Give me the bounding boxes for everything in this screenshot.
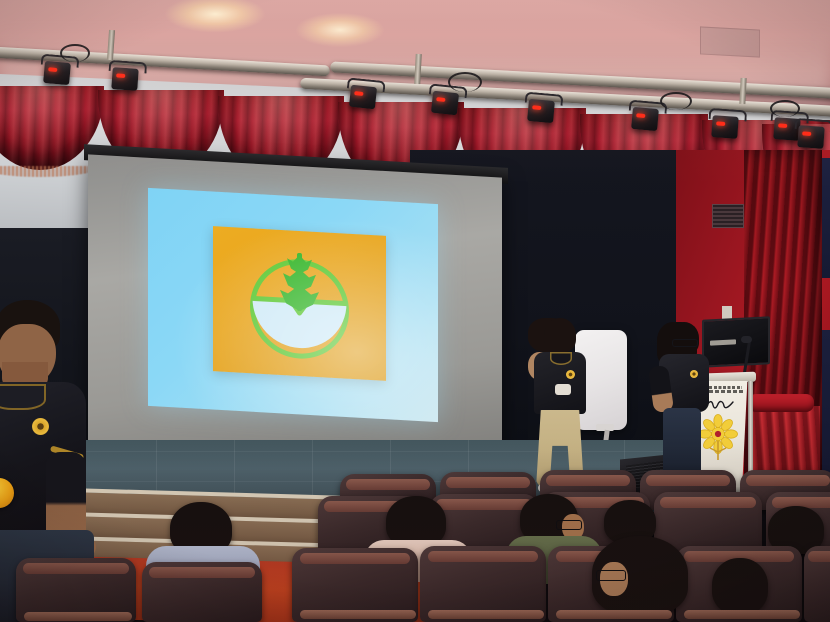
cable: [770, 100, 800, 117]
podium-presenter: [657, 322, 715, 482]
cable: [660, 92, 692, 110]
glasses-icon: [596, 570, 626, 581]
polo-collar: [0, 384, 46, 410]
glasses-icon: [556, 520, 582, 530]
glasses-icon: [672, 339, 698, 347]
microphone-icon: [741, 336, 752, 343]
seat-armrest: [300, 610, 416, 619]
seat-armrest: [556, 610, 672, 619]
curtain-tieback: [748, 394, 814, 412]
hair: [669, 322, 699, 354]
seat-armrest: [684, 610, 800, 619]
uniform-emblem-icon: [690, 370, 698, 378]
auditorium-seat: [142, 562, 262, 622]
stage-light-fixture: [711, 115, 738, 139]
seat-armrest: [24, 612, 132, 621]
agriculture-logo-icon: [213, 226, 386, 381]
polo-collar: [550, 352, 572, 365]
auditorium-photo: Painted ceiling with recessed downlights…: [0, 0, 830, 622]
stage-light-fixture: [349, 85, 377, 110]
audience-person-6: [712, 558, 768, 614]
cable: [448, 72, 482, 92]
hair: [544, 318, 576, 352]
cable: [60, 44, 90, 62]
wall-grille-icon: [712, 204, 744, 228]
auditorium-seat: [804, 546, 830, 622]
truss-drop-rod: [414, 54, 422, 84]
seat-armrest: [428, 610, 544, 619]
uniform-emblem-icon: [32, 418, 49, 435]
stage-light-fixture: [527, 99, 555, 123]
stage-light-fixture: [631, 107, 659, 131]
stage-light-fixture: [431, 91, 459, 116]
presentation-clicker: [555, 384, 571, 395]
stage-light-fixture: [111, 67, 138, 91]
stage-light-fixture: [797, 125, 824, 149]
centre-presenter: [528, 318, 598, 493]
uniform-emblem-icon: [566, 370, 575, 379]
audience-section: [0, 470, 830, 622]
stage-light-fixture: [43, 61, 71, 85]
